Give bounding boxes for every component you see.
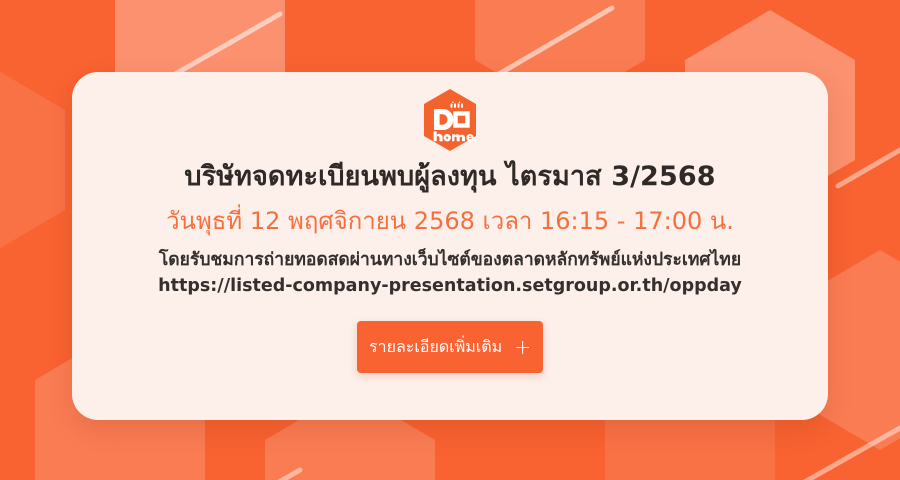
oppday-announcement-banner: บริษัทจดทะเบียนพบผู้ลงทุน ไตรมาส 3/2568 … <box>0 0 900 480</box>
event-datetime: วันพุธที่ 12 พฤศจิกายน 2568 เวลา 16:15 -… <box>166 206 734 237</box>
broadcast-info: โดยรับชมการถ่ายทอดสดผ่านทางเว็บไซต์ของตล… <box>158 248 742 299</box>
plus-icon: + <box>514 337 531 357</box>
broadcast-url[interactable]: https://listed-company-presentation.setg… <box>158 274 742 299</box>
broadcast-channel-text: โดยรับชมการถ่ายทอดสดผ่านทางเว็บไซต์ของตล… <box>158 248 742 273</box>
announcement-card: บริษัทจดทะเบียนพบผู้ลงทุน ไตรมาส 3/2568 … <box>72 72 828 420</box>
dohome-logo <box>421 88 479 152</box>
page-title: บริษัทจดทะเบียนพบผู้ลงทุน ไตรมาส 3/2568 <box>184 160 715 195</box>
more-details-button[interactable]: รายละเอียดเพิ่มเติม + <box>357 321 543 373</box>
more-details-label: รายละเอียดเพิ่มเติม <box>369 339 502 355</box>
